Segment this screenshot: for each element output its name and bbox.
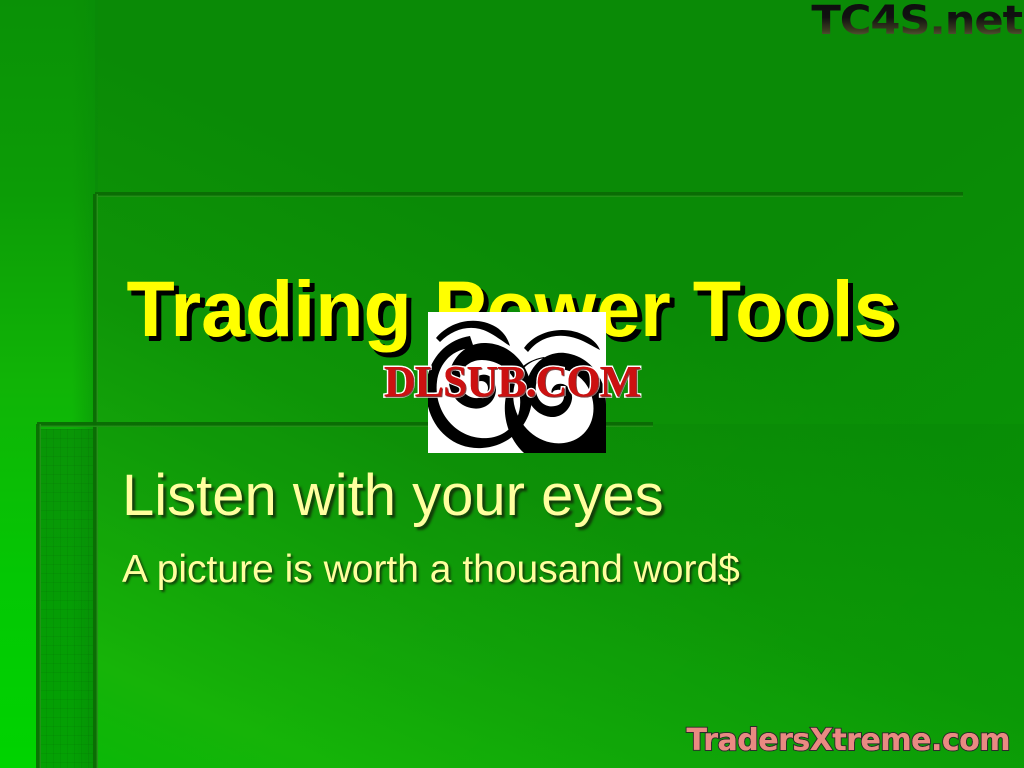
presentation-slide: Trading Power Tools DLSUB.COM DLSUB.COM …	[0, 0, 1024, 768]
dlsub-watermark: DLSUB.COM	[0, 356, 1024, 407]
lower-panel-texture	[39, 429, 93, 768]
frame-rule-top	[95, 192, 963, 197]
tc4s-watermark: TC4S.net	[811, 0, 1022, 44]
tradersxtreme-watermark: TradersXtreme.com	[687, 723, 1010, 758]
slide-subtitle: Listen with your eyes	[122, 462, 664, 529]
frame-rule-lower-horizontal-segment	[605, 422, 653, 427]
frame-rule-lower-vertical	[36, 424, 41, 768]
slide-tagline: A picture is worth a thousand word$	[122, 548, 740, 592]
